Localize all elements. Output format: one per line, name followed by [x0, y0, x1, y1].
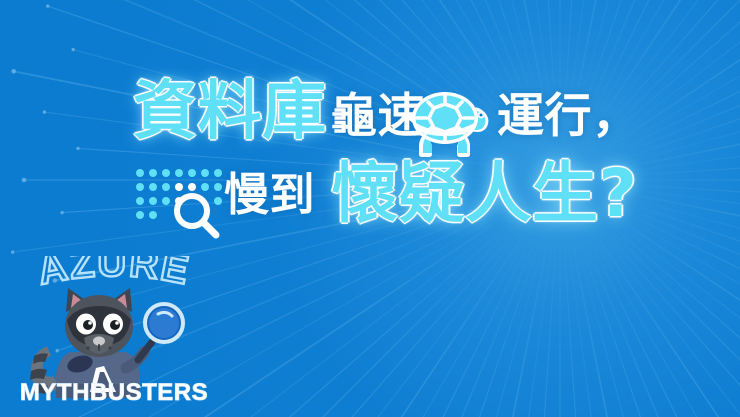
logo-top-word-outline: AZURE	[34, 256, 194, 293]
raccoon-magnifier	[126, 304, 183, 368]
turtle-icon	[406, 84, 494, 162]
raccoon-head	[65, 288, 133, 357]
headline-line1-highlight: 資料庫	[133, 80, 327, 144]
video-thumbnail: 資料庫 龜速 運行， 慢到 懷疑人生?	[0, 0, 740, 417]
headline-line2-highlight: 懷疑人生?	[332, 161, 638, 227]
azure-mythbusters-logo: AZURE	[14, 256, 214, 406]
headline-line1-text-b: 運行，	[497, 93, 639, 140]
magnifier-icon	[177, 196, 216, 235]
logo-bottom-word: MYTHBUSTERS	[20, 379, 208, 406]
database-search-icon	[134, 166, 238, 240]
